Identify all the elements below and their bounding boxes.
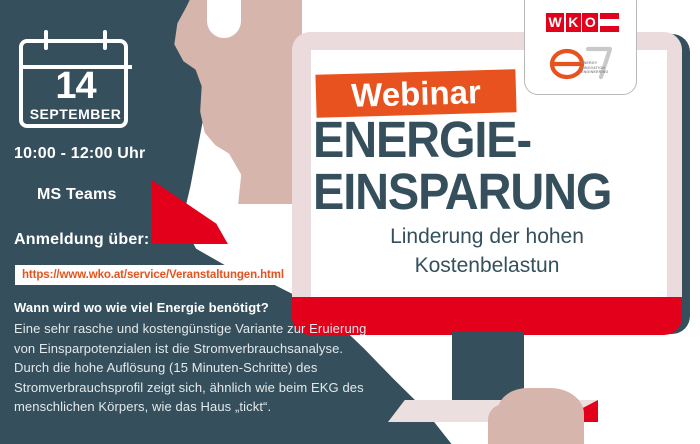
calendar-icon: 14 SEPTEMBER — [19, 30, 132, 130]
wko-letter-k: K — [566, 13, 581, 32]
wko-logo: W K O — [546, 13, 619, 32]
description-block: Wann wird wo wie viel Energie benötigt? … — [14, 300, 444, 417]
poster-headline-line-1: ENERGIE- — [313, 114, 642, 166]
poster-headline: ENERGIE- EINSPARUNG — [313, 114, 642, 218]
e7-logo: ENERGY INNOVATION ENGINEERING — [548, 42, 618, 82]
description-line: menschlichen Körpers, wie das Haus „tick… — [14, 397, 444, 417]
e7-tagline-line-3: ENGINEERING — [581, 70, 608, 75]
registration-url[interactable]: https://www.wko.at/service/Veranstaltung… — [15, 265, 291, 285]
typing-hand — [498, 388, 584, 444]
calendar-month: SEPTEMBER — [19, 106, 132, 122]
description-heading: Wann wird wo wie viel Energie benötigt? — [14, 300, 444, 315]
e7-logo-tagline: ENERGY INNOVATION ENGINEERING — [581, 61, 608, 75]
description-line: Stromverbrauchsprofil zeigt sich, ähnlic… — [14, 378, 444, 398]
webinar-poster: Webinar ENERGIE- EINSPARUNG Linderung de… — [0, 0, 700, 444]
austria-flag-icon — [600, 13, 619, 32]
poster-subtitle-line-2: Kostenbelastun — [313, 251, 661, 280]
poster-subtitle-line-1: Linderung der hohen — [313, 222, 661, 251]
description-line: von Einsparpotenzialen ist die Stromverb… — [14, 339, 444, 359]
description-line: Durch die hohe Auflösung (15 Minuten-Sch… — [14, 358, 444, 378]
person-ear-notch — [207, 0, 241, 38]
wko-letter-o: O — [582, 13, 598, 32]
calendar-day: 14 — [19, 66, 132, 106]
poster-subtitle: Linderung der hohen Kostenbelastun — [313, 222, 661, 280]
poster-headline-line-2: EINSPARUNG — [313, 166, 642, 218]
registration-label: Anmeldung über: — [14, 231, 149, 249]
event-time: 10:00 - 12:00 Uhr — [14, 145, 145, 163]
wko-letter-w: W — [546, 13, 564, 32]
description-line: Eine sehr rasche und kostengünstige Vari… — [14, 319, 444, 339]
event-platform: MS Teams — [37, 186, 117, 204]
